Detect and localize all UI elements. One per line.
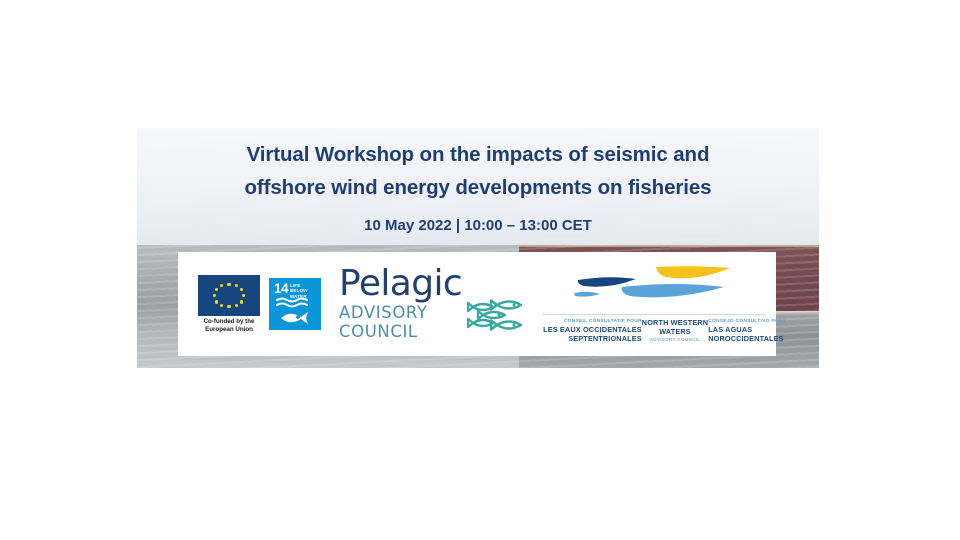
eu-caption-line-1: Co-funded by the [196,318,262,325]
pac-wordmark: Pelagic [339,265,462,303]
sdg-number: 14 [274,282,288,295]
north-western-waters-advisory-council-logo: Conseil Consultatif pour les Eaux Occide… [543,264,766,343]
fish-and-waves-icon [274,297,316,327]
event-promo-banner: Virtual Workshop on the impacts of seism… [137,128,819,368]
nwwac-en-line-2: Waters [642,328,708,337]
eu-flag-icon [198,275,260,316]
banner-title-block: Virtual Workshop on the impacts of seism… [137,138,819,236]
pac-wordmark-block: Pelagic ADVISORY COUNCIL [339,265,462,342]
nwwac-trilingual-names: Conseil Consultatif pour les Eaux Occide… [543,319,766,343]
eu-flag-logo: Co-funded by the European Union [196,275,262,333]
nwwac-boat-wave-icon [570,264,740,311]
eu-logo-caption: Co-funded by the European Union [196,318,262,333]
pelagic-advisory-council-logo: Pelagic ADVISORY COUNCIL [339,265,529,344]
pac-sub-line-2: COUNCIL [339,323,462,342]
nwwac-es-line-2: Noroccidentales [708,335,786,344]
banner-title-line-2: offshore wind energy developments on fis… [161,171,795,204]
nwwac-name-spanish: Consejo Consultivo para las Aguas Norocc… [708,319,786,343]
nwwac-fr-line-2: Septentrionales [543,335,642,344]
eu-caption-line-2: European Union [196,326,262,333]
sdg-14-life-below-water-logo: 14 LIFE BELOW WATER [269,278,321,330]
nwwac-divider [543,314,766,315]
nwwac-en-tiny: Advisory Council [642,337,708,343]
partner-logo-strip: Co-funded by the European Union 14 LIFE … [178,252,776,356]
banner-title-line-1: Virtual Workshop on the impacts of seism… [161,138,795,171]
pac-three-fish-icon [467,299,529,344]
nwwac-name-french: Conseil Consultatif pour les Eaux Occide… [543,319,642,343]
pac-sub-line-1: ADVISORY [339,304,462,323]
nwwac-name-english: North Western Waters Advisory Council [642,319,708,343]
banner-date-time: 10 May 2022 | 10:00 – 13:00 CET [161,215,795,236]
screenshot-canvas: Virtual Workshop on the impacts of seism… [0,0,960,540]
